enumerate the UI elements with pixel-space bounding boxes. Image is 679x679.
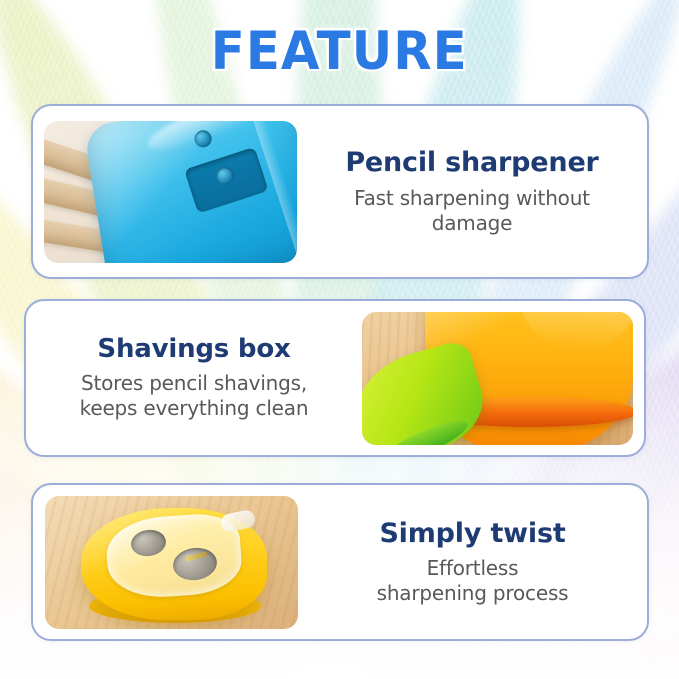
feature-body-simply-twist-line1: Effortless — [308, 556, 637, 581]
feature-body-pencil-sharpener-line2: damage — [307, 211, 637, 236]
page-title: FEATURE — [211, 21, 468, 83]
feature-heading-shavings-box: Shavings box — [36, 335, 352, 365]
feature-card-pencil-sharpener: Pencil sharpener Fast sharpening without… — [31, 104, 649, 279]
feature-image-pencil-sharpener — [44, 121, 297, 263]
feature-heading-pencil-sharpener: Pencil sharpener — [307, 147, 637, 178]
feature-image-simply-twist — [45, 496, 298, 629]
feature-card-simply-twist: Simply twist Effortless sharpening proce… — [31, 483, 649, 641]
feature-heading-simply-twist: Simply twist — [308, 518, 637, 549]
page-title-wrap: FEATURE — [0, 24, 679, 79]
feature-body-simply-twist-line2: sharpening process — [308, 581, 637, 606]
feature-infographic: FEATURE — [0, 0, 679, 679]
feature-copy-simply-twist: Simply twist Effortless sharpening proce… — [298, 518, 647, 606]
feature-body-pencil-sharpener-line1: Fast sharpening without — [307, 186, 637, 211]
feature-body-shavings-box-line1: Stores pencil shavings, — [36, 371, 352, 396]
crayon-streak — [0, 636, 340, 679]
feature-image-shavings-box — [362, 312, 633, 445]
feature-body-shavings-box-line2: keeps everything clean — [36, 396, 352, 421]
feature-copy-pencil-sharpener: Pencil sharpener Fast sharpening without… — [297, 147, 647, 235]
feature-card-shavings-box: Shavings box Stores pencil shavings, kee… — [24, 299, 646, 457]
feature-copy-shavings-box: Shavings box Stores pencil shavings, kee… — [26, 335, 362, 422]
